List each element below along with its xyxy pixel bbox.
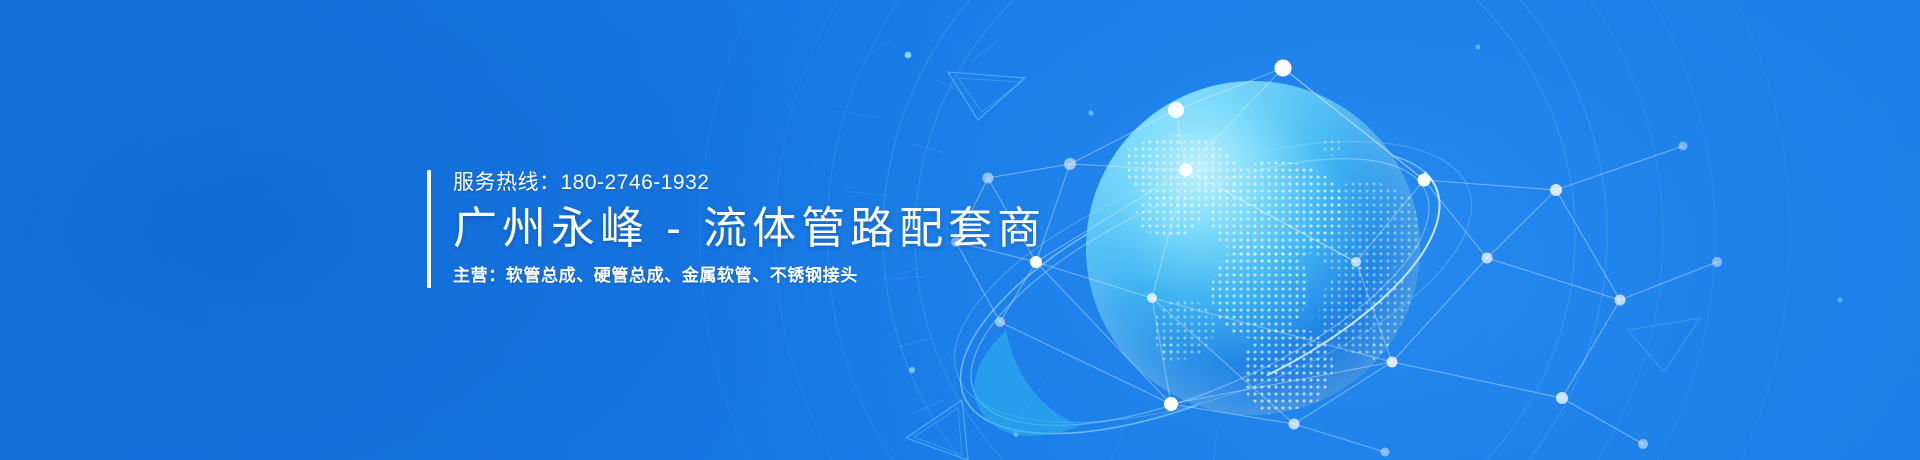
product-subtitle: 主营：软管总成、硬管总成、金属软管、不锈钢接头 [453,264,1046,288]
hero-text-column: 服务热线：180-2746-1932 广州永峰 - 流体管路配套商 主营：软管总… [453,170,1046,288]
vertical-accent-bar [427,170,431,288]
hero-banner: 服务热线：180-2746-1932 广州永峰 - 流体管路配套商 主营：软管总… [0,0,1920,460]
page-title: 广州永峰 - 流体管路配套商 [453,200,1046,258]
hero-text-block: 服务热线：180-2746-1932 广州永峰 - 流体管路配套商 主营：软管总… [427,170,1046,288]
service-hotline: 服务热线：180-2746-1932 [453,170,1046,196]
